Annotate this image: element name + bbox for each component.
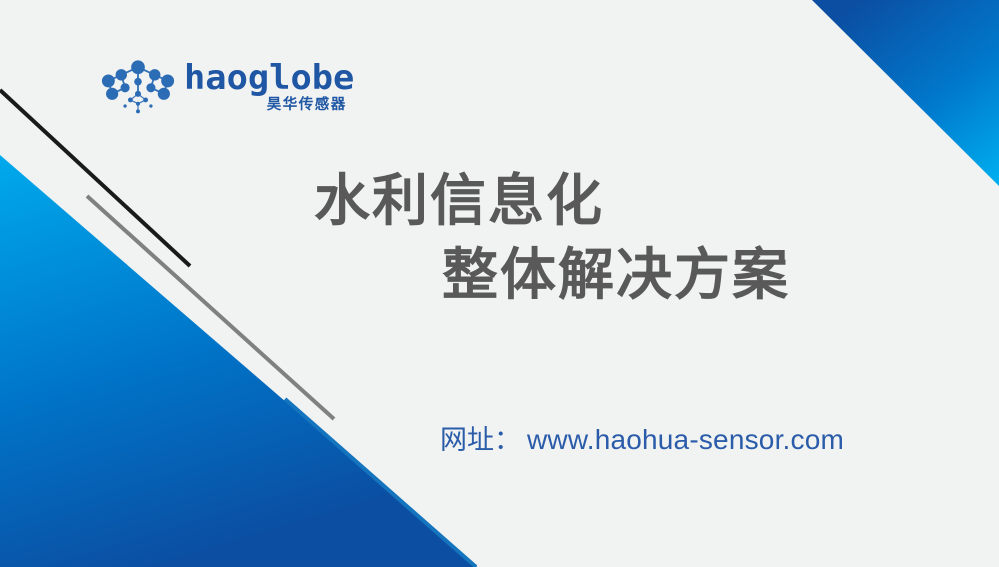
slide-title: 水利信息化 整体解决方案: [300, 165, 900, 313]
website-line: 网址： www.haohua-sensor.com: [440, 418, 844, 457]
website-url[interactable]: www.haohua-sensor.com: [527, 424, 844, 456]
logo-chinese-name: 昊华传感器: [267, 98, 347, 113]
presentation-slide: haoglobe 昊华传感器 水利信息化 整体解决方案 网址： www.haoh…: [0, 0, 999, 567]
title-line-1: 水利信息化: [300, 165, 900, 239]
network-nodes-icon: [100, 58, 176, 116]
title-line-2: 整体解决方案: [300, 239, 900, 313]
website-label: 网址：: [440, 418, 521, 457]
logo-text-lockup: haoglobe 昊华传感器: [184, 61, 348, 113]
company-logo: haoglobe 昊华传感器: [100, 58, 348, 116]
logo-wordmark: haoglobe: [184, 61, 354, 95]
